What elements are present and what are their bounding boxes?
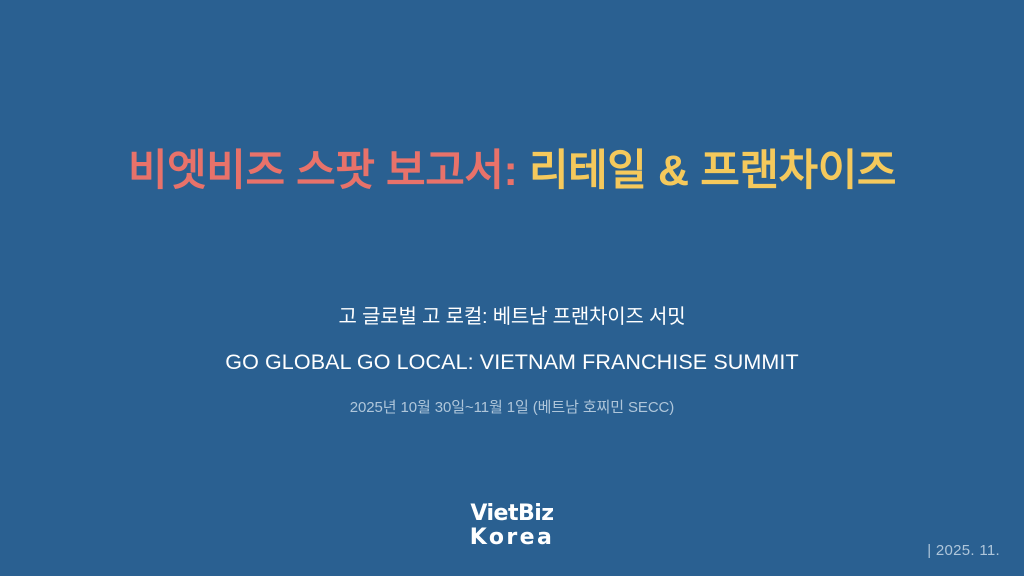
subtitle-english: GO GLOBAL GO LOCAL: VIETNAM FRANCHISE SU…: [0, 347, 1024, 378]
vietbiz-korea-logo: VietBiz Korea: [0, 503, 1024, 549]
logo-line-korea: Korea: [0, 527, 1024, 549]
title-primary-segment: 비엣비즈 스팟 보고서:: [128, 147, 517, 195]
subtitle-date-venue: 2025년 10월 30일~11월 1일 (베트남 호찌민 SECC): [0, 397, 1024, 419]
slide-footer-date: | 2025. 11.: [927, 542, 1000, 559]
slide-title: 비엣비즈 스팟 보고서: 리테일 & 프랜차이즈: [0, 146, 1024, 198]
subtitle-korean: 고 글로벌 고 로컬: 베트남 프랜차이즈 서밋: [0, 303, 1024, 332]
presentation-slide: 비엣비즈 스팟 보고서: 리테일 & 프랜차이즈 고 글로벌 고 로컬: 베트남…: [0, 0, 1024, 576]
title-line: 비엣비즈 스팟 보고서: 리테일 & 프랜차이즈: [0, 146, 1024, 198]
logo-line-vietbiz: VietBiz: [0, 503, 1024, 525]
slide-subtitle-block: 고 글로벌 고 로컬: 베트남 프랜차이즈 서밋 GO GLOBAL GO LO…: [0, 303, 1024, 419]
title-secondary-segment: 리테일 & 프랜차이즈: [517, 147, 896, 195]
